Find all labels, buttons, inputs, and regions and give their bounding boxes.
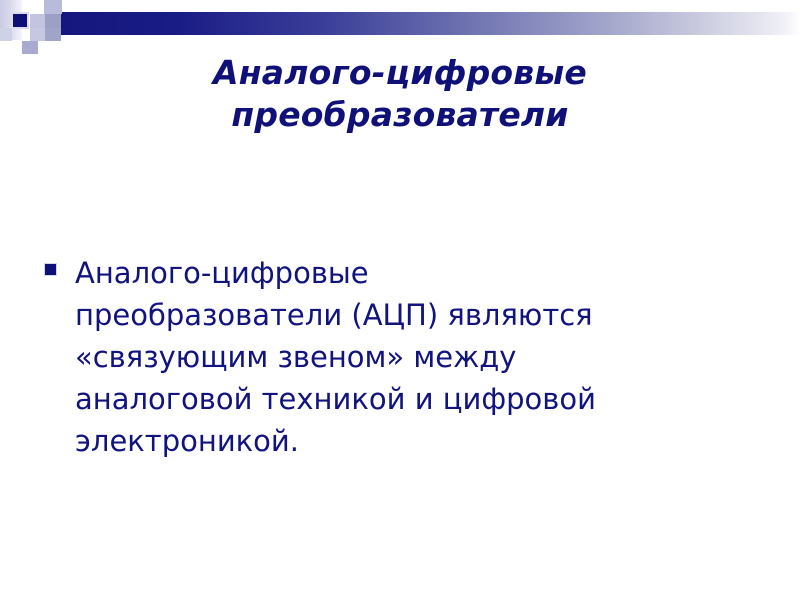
- decoration-square-pale-c: [30, 28, 45, 41]
- decoration-square-pale-a: [30, 14, 45, 28]
- bullet-line-1: Аналого-цифровые: [75, 252, 744, 294]
- decoration-square-accent: [11, 12, 29, 29]
- slide-title-line-2: преобразователи: [70, 94, 730, 136]
- bullet-item-text: Аналого-цифровые преобразователи (АЦП) я…: [75, 252, 744, 462]
- bullet-square-icon: [44, 263, 57, 276]
- header-decoration: [0, 0, 800, 48]
- bullet-line-3: «связующим звеном» между: [75, 336, 744, 378]
- slide-title-line-1: Аналого-цифровые: [70, 52, 730, 94]
- decoration-gradient-bar: [60, 12, 800, 35]
- decoration-square-pale-f: [0, 28, 12, 41]
- slide-canvas: Аналого-цифровые преобразователи Аналого…: [0, 0, 800, 600]
- bullet-line-2: преобразователи (АЦП) являются: [75, 294, 744, 336]
- slide-title: Аналого-цифровые преобразователи: [70, 52, 730, 136]
- decoration-square-white: [61, 0, 75, 12]
- decoration-square-mid-b: [45, 14, 61, 28]
- decoration-square-mid-d: [45, 28, 61, 41]
- slide-body: Аналого-цифровые преобразователи (АЦП) я…: [44, 252, 744, 462]
- bullet-line-4: аналоговой техникой и цифровой: [75, 378, 744, 420]
- bullet-item: Аналого-цифровые преобразователи (АЦП) я…: [44, 252, 744, 462]
- bullet-line-5: электроникой.: [75, 420, 744, 462]
- decoration-square-pale-top: [44, 0, 62, 14]
- decoration-square-mid-e: [22, 41, 38, 54]
